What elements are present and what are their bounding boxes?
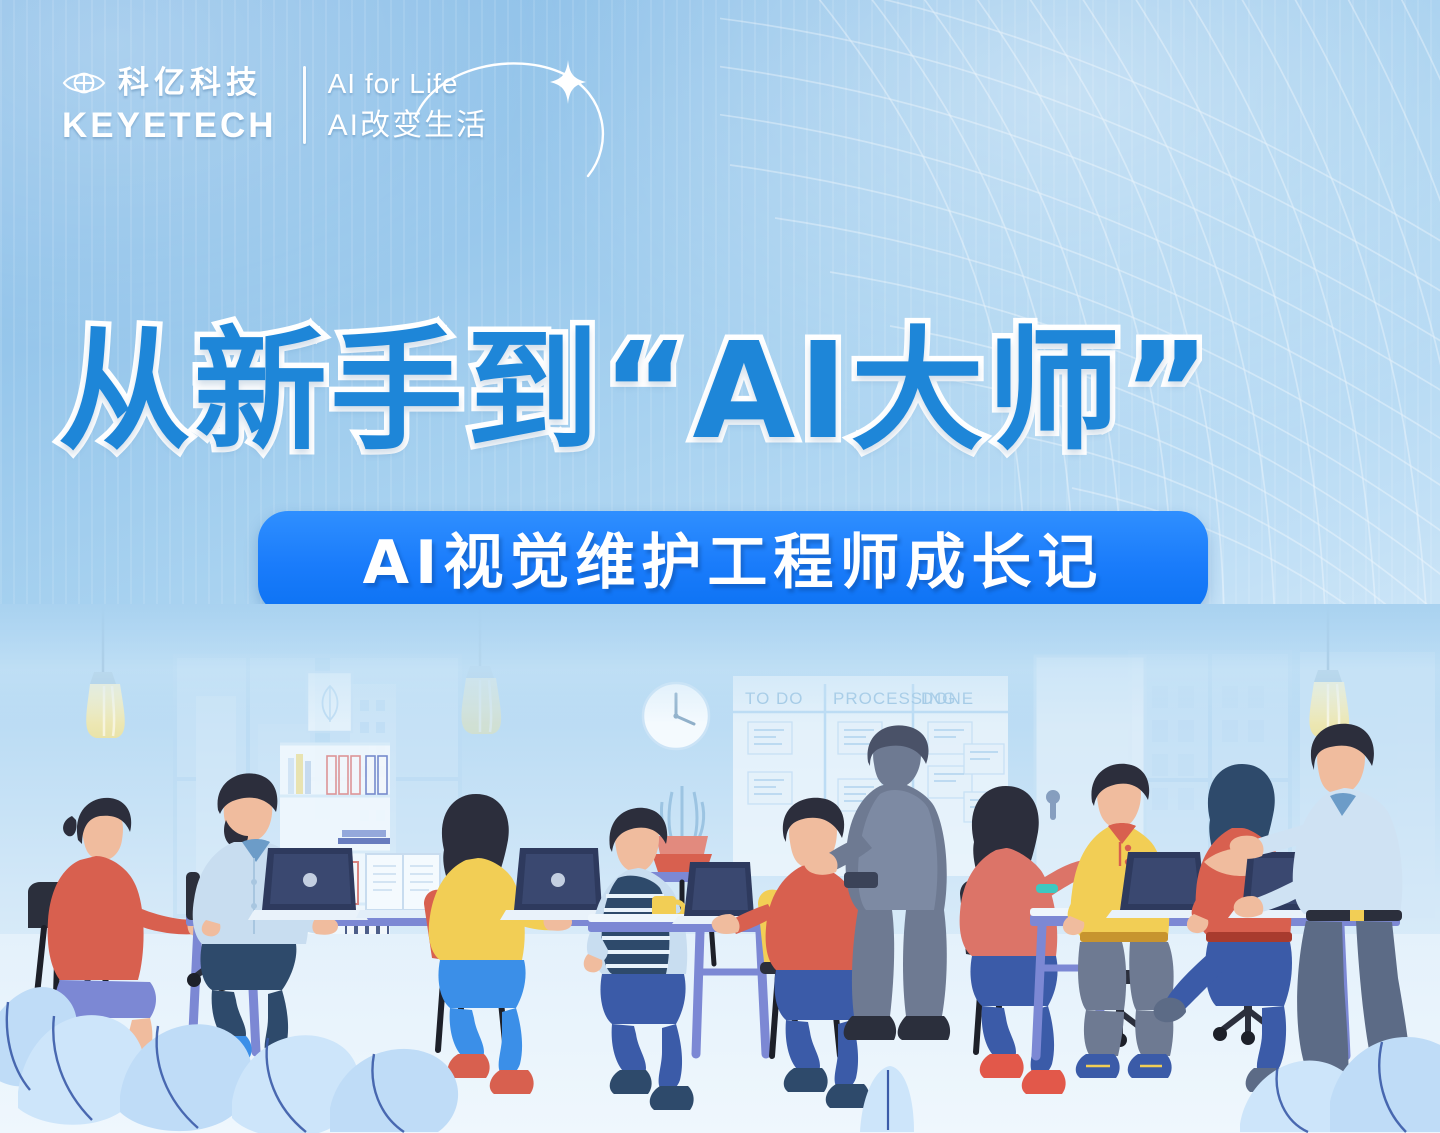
brand-slogan-group: AI for Life AI改变生活	[328, 70, 488, 141]
brand-logo-left: 科亿科技 KEYETECH	[62, 67, 277, 143]
svg-text:DONE: DONE	[921, 689, 974, 708]
brand-name-en: KEYETECH	[62, 108, 277, 143]
logo-divider	[303, 66, 306, 144]
eye-lens-icon	[62, 68, 106, 98]
hero-subtitle-text: AI视觉维护工程师成长记	[363, 533, 1104, 593]
brand-name-cn: 科亿科技	[118, 67, 262, 98]
brand-slogan-cn: AI改变生活	[328, 111, 488, 141]
wall-clock-shape	[643, 683, 709, 749]
hero-subtitle-banner: AI视觉维护工程师成长记	[258, 511, 1208, 614]
brand-name-cn-row: 科亿科技	[62, 67, 277, 98]
office-training-illustration: TO DO PROCESSING DONE	[0, 604, 1440, 1133]
poster-canvas: 科亿科技 KEYETECH AI for Life AI改变生活 从新手到“AI…	[0, 0, 1440, 1133]
svg-text:TO DO: TO DO	[745, 689, 804, 708]
brand-slogan-en: AI for Life	[328, 70, 488, 98]
hero-title: 从新手到“AI大师”	[58, 326, 1213, 459]
brand-logo[interactable]: 科亿科技 KEYETECH AI for Life AI改变生活	[62, 66, 488, 144]
